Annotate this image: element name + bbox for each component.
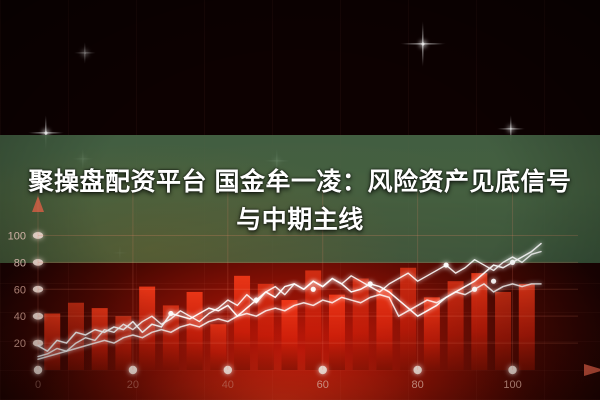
svg-text:60: 60 (317, 379, 329, 391)
svg-text:100: 100 (503, 379, 521, 391)
page-title: 聚操盘配资平台 国金牟一凌：风险资产见底信号 与中期主线 (0, 163, 600, 239)
svg-text:80: 80 (14, 257, 26, 269)
svg-text:40: 40 (222, 379, 234, 391)
title-line-2: 与中期主线 (0, 201, 600, 239)
banner-image: 20406080100020406080100 聚操盘配资平台 国金牟一凌：风险… (0, 0, 600, 400)
chart-bars (44, 268, 535, 370)
svg-text:40: 40 (14, 311, 26, 323)
title-line-1: 聚操盘配资平台 国金牟一凌：风险资产见底信号 (29, 168, 572, 196)
svg-text:20: 20 (14, 338, 26, 350)
svg-text:80: 80 (412, 379, 424, 391)
svg-text:20: 20 (127, 379, 139, 391)
svg-text:0: 0 (35, 379, 41, 391)
svg-text:60: 60 (14, 284, 26, 296)
